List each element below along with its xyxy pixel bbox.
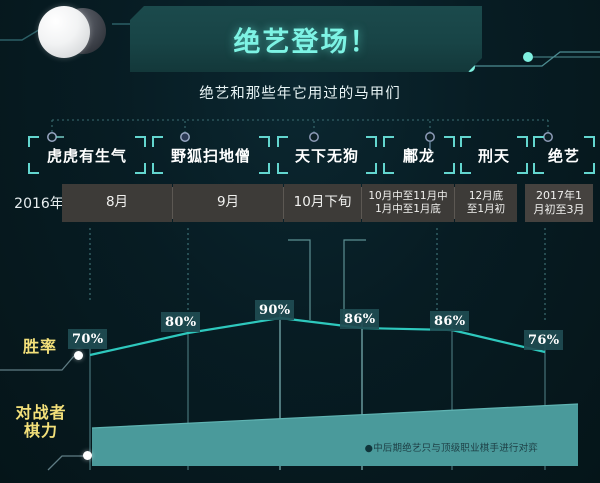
bracket-corner xyxy=(460,136,471,147)
alias-label: 野狐扫地僧 xyxy=(171,145,251,166)
bracket-corner xyxy=(383,163,394,174)
timeline-cell-text: 10月下旬 xyxy=(294,195,352,210)
axis-label-line2: 棋力 xyxy=(2,422,80,440)
timeline-cell-5[interactable]: 12月底 至1月初 xyxy=(455,184,517,222)
bracket-corner xyxy=(383,136,394,147)
win-rate-badge-5: 86% xyxy=(430,311,469,331)
timeline-cell-4[interactable]: 10月中至11月中 1月中至1月底 xyxy=(362,184,454,222)
bracket-corner xyxy=(366,136,377,147)
win-rate-badge-6: 76% xyxy=(524,330,563,350)
timeline-cell-3[interactable]: 10月下旬 xyxy=(284,184,361,222)
timeline-cell-text-line2: 至1月初 xyxy=(467,203,505,216)
alias-box-1[interactable]: 虎虎有生气 xyxy=(28,136,146,174)
bracket-corner xyxy=(584,163,595,174)
axis-label-opponent-strength: 对战者 棋力 xyxy=(2,404,80,440)
alias-box-6[interactable]: 绝艺 xyxy=(533,136,595,174)
go-stone-white-icon xyxy=(38,6,90,58)
footnote-bullet: ● xyxy=(365,443,374,454)
page-subtitle: 绝艺和那些年它用过的马甲们 xyxy=(0,82,600,103)
bracket-corner xyxy=(152,163,163,174)
timeline-cell-text: 8月 xyxy=(106,195,128,210)
timeline-cell-text: 9月 xyxy=(217,195,239,210)
bracket-corner xyxy=(259,136,270,147)
win-rate-badge-3: 90% xyxy=(255,300,294,320)
axis-label-line1: 对战者 xyxy=(2,404,80,422)
footnote: ●中后期绝艺只与顶级职业棋手进行对弈 xyxy=(365,440,538,454)
timeline-year-label: 2016年 xyxy=(8,188,70,218)
background xyxy=(0,0,600,483)
bracket-corner xyxy=(517,136,528,147)
infographic-root: 绝艺登场！ 绝艺和那些年它用过的马甲们 虎虎有生气 野狐扫地僧 天下无狗 xyxy=(0,0,600,483)
bracket-corner xyxy=(517,163,528,174)
win-rate-badge-2: 80% xyxy=(161,312,200,332)
bracket-corner xyxy=(152,136,163,147)
timeline-cell-text-line1: 2017年1 xyxy=(536,189,582,203)
timeline-row: 2016年 8月 9月 10月下旬 10月中至11月中 1月中至1月底 12月底… xyxy=(0,184,600,222)
timeline-cell-text-line1: 10月中至11月中 xyxy=(368,190,447,203)
alias-label: 鄘龙 xyxy=(403,145,435,166)
bracket-corner xyxy=(533,136,544,147)
footnote-text: 中后期绝艺只与顶级职业棋手进行对弈 xyxy=(373,443,538,454)
bracket-corner xyxy=(444,136,455,147)
timeline-cell-2[interactable]: 9月 xyxy=(173,184,283,222)
timeline-cell-text-line2: 月初至3月 xyxy=(534,203,585,217)
timeline-cell-1[interactable]: 8月 xyxy=(62,184,172,222)
alias-label: 刑天 xyxy=(478,145,510,166)
alias-label: 绝艺 xyxy=(548,145,580,166)
alias-box-2[interactable]: 野狐扫地僧 xyxy=(152,136,270,174)
bracket-corner xyxy=(135,163,146,174)
bracket-corner xyxy=(135,136,146,147)
alias-name-row: 虎虎有生气 野狐扫地僧 天下无狗 鄘龙 刑天 xyxy=(0,136,600,178)
bracket-corner xyxy=(28,136,39,147)
bracket-corner xyxy=(366,163,377,174)
win-rate-start-dot xyxy=(74,351,83,360)
timeline-cell-text-line2: 1月中至1月底 xyxy=(375,203,441,216)
bracket-corner xyxy=(533,163,544,174)
alias-box-5[interactable]: 刑天 xyxy=(460,136,528,174)
win-rate-badge-4: 86% xyxy=(340,309,379,329)
bracket-corner xyxy=(277,163,288,174)
timeline-cell-6[interactable]: 2017年1 月初至3月 xyxy=(525,184,593,222)
page-title: 绝艺登场！ xyxy=(130,6,482,72)
bracket-corner xyxy=(584,136,595,147)
bracket-corner xyxy=(277,136,288,147)
bracket-corner xyxy=(28,163,39,174)
opponent-strength-start-dot xyxy=(83,451,92,460)
timeline-cell-text-line1: 12月底 xyxy=(469,190,503,203)
bracket-corner xyxy=(460,163,471,174)
axis-label-win-rate: 胜率 xyxy=(4,338,76,356)
alias-box-3[interactable]: 天下无狗 xyxy=(277,136,377,174)
alias-label: 天下无狗 xyxy=(295,145,359,166)
alias-label: 虎虎有生气 xyxy=(47,145,127,166)
alias-box-4[interactable]: 鄘龙 xyxy=(383,136,455,174)
bracket-corner xyxy=(444,163,455,174)
bracket-corner xyxy=(259,163,270,174)
